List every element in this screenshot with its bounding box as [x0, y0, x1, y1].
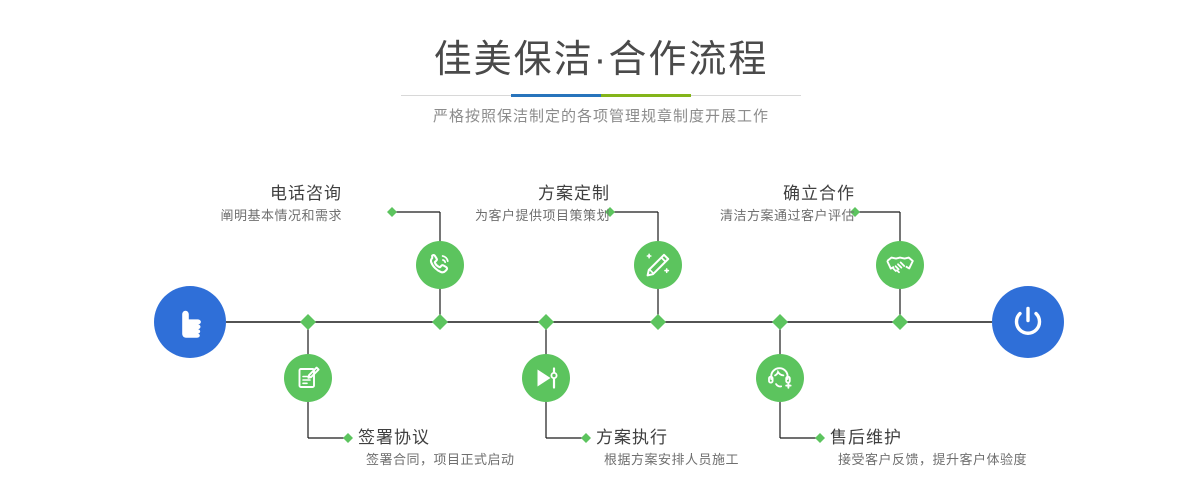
pencil-edit-icon: [643, 250, 673, 280]
step-label-4: 方案执行 根据方案安排人员施工: [596, 426, 739, 470]
step-title-1: 电话咨询: [220, 182, 342, 206]
step-icon-1[interactable]: [416, 241, 464, 289]
step-title-3: 方案定制: [475, 182, 610, 206]
flow-end-button[interactable]: [992, 286, 1064, 358]
cooperation-flow-page: 佳美保洁·合作流程 严格按照保洁制定的各项管理规章制度开展工作: [0, 0, 1202, 502]
step-icon-6[interactable]: [756, 354, 804, 402]
divider-rule-left: [401, 95, 511, 96]
label-diamond-6: [815, 433, 825, 443]
step-label-5: 确立合作 清洁方案通过客户评估: [720, 182, 855, 226]
title-divider: [401, 94, 801, 97]
step-desc-6: 接受客户反馈，提升客户体验度: [830, 450, 1027, 470]
page-title: 佳美保洁·合作流程: [0, 37, 1202, 83]
step-title-4: 方案执行: [596, 426, 739, 450]
divider-segment-blue: [511, 94, 601, 97]
step-icon-2[interactable]: [284, 354, 332, 402]
step-icon-5[interactable]: [876, 241, 924, 289]
power-icon: [1008, 302, 1048, 342]
axis-diamond-6: [892, 314, 908, 330]
divider-segment-green: [601, 94, 691, 97]
step-title-5: 确立合作: [720, 182, 855, 206]
divider-rule-right: [691, 95, 801, 96]
pointing-hand-icon: [169, 301, 211, 343]
axis-diamond-1: [300, 314, 316, 330]
step-desc-1: 阐明基本情况和需求: [220, 206, 342, 226]
step-icon-3[interactable]: [634, 241, 682, 289]
step-icon-4[interactable]: [522, 354, 570, 402]
page-subtitle: 严格按照保洁制定的各项管理规章制度开展工作: [0, 106, 1202, 128]
step-label-1: 电话咨询 阐明基本情况和需求: [220, 182, 342, 226]
play-execute-icon: [531, 363, 561, 393]
step-label-6: 售后维护 接受客户反馈，提升客户体验度: [830, 426, 1027, 470]
customer-service-add-icon: [765, 363, 795, 393]
label-diamond-1: [387, 207, 397, 217]
flow-start-button[interactable]: [154, 286, 226, 358]
step-label-3: 方案定制 为客户提供项目策策划: [475, 182, 610, 226]
label-diamond-2: [343, 433, 353, 443]
step-desc-2: 签署合同，项目正式启动: [358, 450, 515, 470]
flow-diagram: 电话咨询 阐明基本情况和需求 签署协议 签署合同，项目正式启动: [0, 150, 1202, 502]
step-label-2: 签署协议 签署合同，项目正式启动: [358, 426, 515, 470]
step-desc-4: 根据方案安排人员施工: [596, 450, 739, 470]
step-title-6: 售后维护: [830, 426, 1027, 450]
axis-diamond-4: [650, 314, 666, 330]
handshake-icon: [884, 249, 916, 281]
axis-diamond-2: [432, 314, 448, 330]
document-sign-icon: [293, 363, 323, 393]
step-desc-5: 清洁方案通过客户评估: [720, 206, 855, 226]
label-diamond-4: [581, 433, 591, 443]
axis-diamond-3: [538, 314, 554, 330]
axis-diamond-5: [772, 314, 788, 330]
phone-call-icon: [425, 250, 455, 280]
step-title-2: 签署协议: [358, 426, 515, 450]
step-desc-3: 为客户提供项目策策划: [475, 206, 610, 226]
page-header: 佳美保洁·合作流程 严格按照保洁制定的各项管理规章制度开展工作: [0, 0, 1202, 150]
